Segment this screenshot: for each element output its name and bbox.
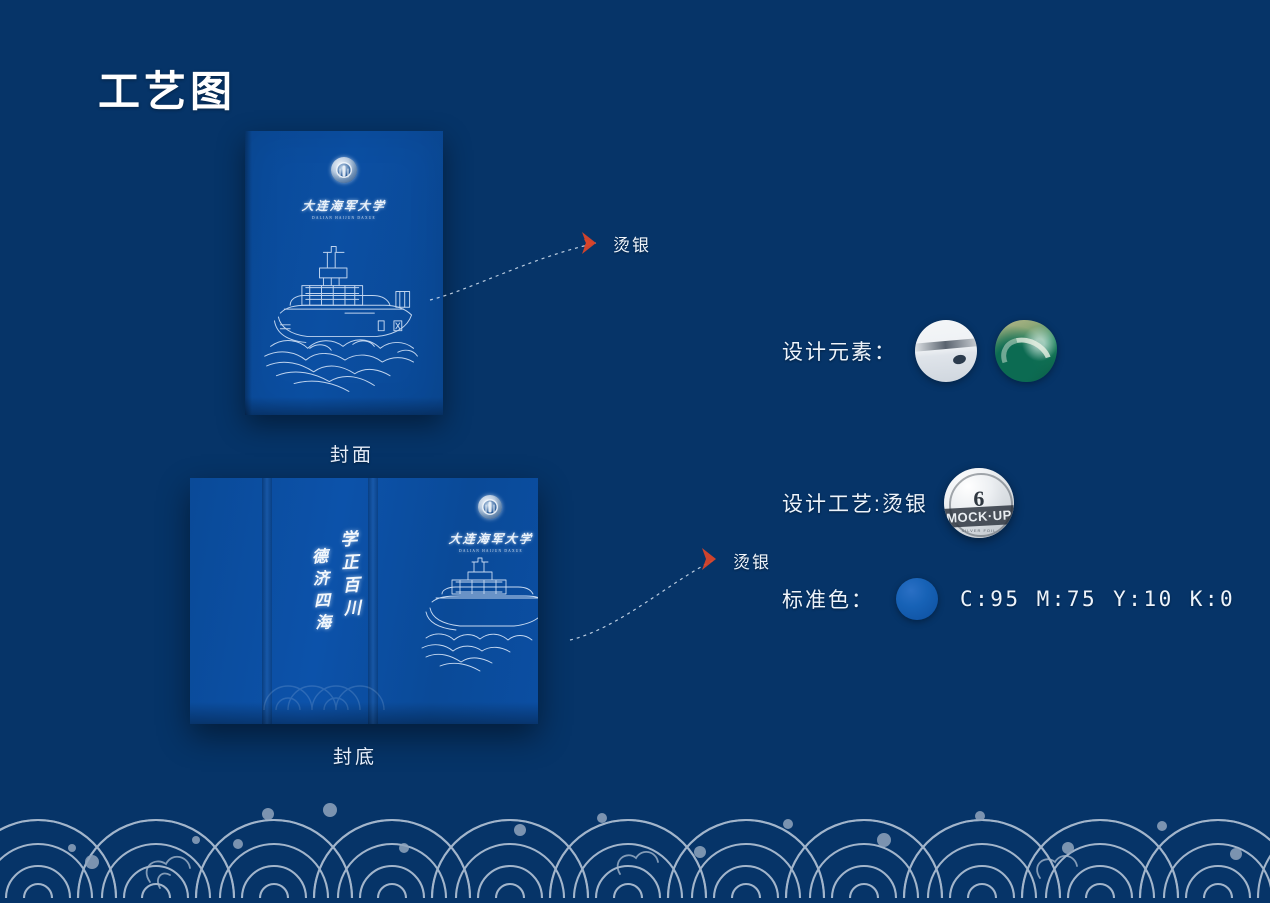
sea-wave-decoration [0, 778, 1270, 898]
cmyk-y: Y:10 [1113, 587, 1174, 611]
back-shadow [190, 702, 538, 724]
cmyk-k: K:0 [1190, 587, 1235, 611]
design-elements-row: 设计元素： [782, 320, 1057, 382]
standard-color-label: 标准色： [782, 584, 874, 614]
calligraphy-column-right: 学正百川 [334, 529, 365, 650]
back-calligraphy: 学正百川 德济四海 [290, 530, 362, 650]
cover-brand-cn: 大连海军大学 [245, 197, 443, 214]
page-title: 工艺图 [98, 58, 236, 119]
design-elements-label: 设计元素： [782, 336, 897, 366]
design-craft-label: 设计工艺:烫银 [782, 488, 928, 518]
annotation-label-back: 烫银 [733, 548, 771, 573]
badge-subtitle-2: — SILVER FOIL — [944, 528, 1014, 533]
back-cover-caption: 封底 [255, 742, 455, 769]
cover-shadow [245, 397, 443, 415]
back-brand-cn: 大连海军大学 [434, 530, 538, 547]
annotation-label-cover: 烫银 [613, 231, 651, 256]
cmyk-c: C:95 [960, 587, 1021, 611]
university-emblem-icon [331, 157, 357, 183]
silver-foil-mockup-badge[interactable]: 6 MOCK·UP EMBOSSED STAMP — SILVER FOIL — [944, 468, 1014, 538]
back-ship-illustration [418, 556, 538, 676]
standard-color-row: 标准色： C:95M:75Y:10K:0 [782, 578, 1251, 620]
annotation-leader-lines [0, 0, 1270, 898]
back-cover-mockup[interactable]: 学正百川 德济四海 大连海军大学 DALIAN HAIJUN DAXUE [190, 478, 538, 724]
ocean-wave-photo-thumb[interactable] [995, 320, 1057, 382]
standard-color-swatch[interactable] [896, 578, 938, 620]
cover-caption: 封面 [252, 440, 452, 467]
design-craft-row: 设计工艺:烫银 6 MOCK·UP EMBOSSED STAMP — SILVE… [782, 468, 1014, 538]
back-brand-logotype: 大连海军大学 DALIAN HAIJUN DAXUE [435, 530, 538, 553]
cover-brand-en: DALIAN HAIJUN DAXUE [245, 216, 443, 220]
cmyk-values: C:95M:75Y:10K:0 [960, 587, 1251, 611]
calligraphy-column-left: 德济四海 [304, 547, 333, 650]
university-emblem-icon [478, 495, 502, 519]
badge-subtitle: EMBOSSED STAMP [944, 521, 1014, 526]
slide-canvas: 工艺图 大连海军大学 DALIAN HAIJUN DAXUE [0, 0, 1270, 898]
back-brand-en: DALIAN HAIJUN DAXUE [435, 549, 538, 553]
cover-ship-illustration [251, 229, 437, 404]
naval-ship-photo-thumb[interactable] [915, 320, 977, 382]
cover-mockup[interactable]: 大连海军大学 DALIAN HAIJUN DAXUE [245, 131, 443, 415]
cmyk-m: M:75 [1037, 587, 1098, 611]
cover-brand-logotype: 大连海军大学 DALIAN HAIJUN DAXUE [245, 197, 443, 220]
